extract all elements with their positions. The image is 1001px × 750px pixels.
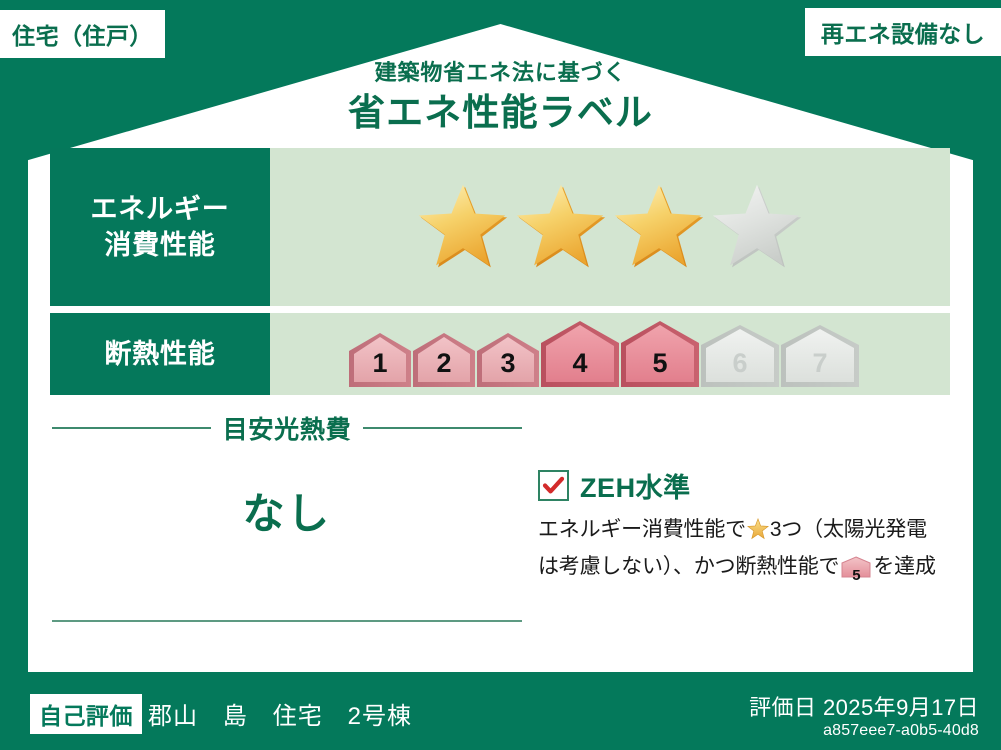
zeh-desc-part4: を達成 xyxy=(873,555,935,578)
insulation-level-3: 3 xyxy=(477,333,539,387)
energy-performance-value xyxy=(270,148,950,306)
insulation-level-1: 1 xyxy=(349,333,411,387)
evaluation-date: 評価日 2025年9月17日 xyxy=(749,690,979,722)
zeh-block: ZEH水準 エネルギー消費性能で 3つ（太陽光発電 は考慮しない）、かつ断熱性能… xyxy=(538,466,950,588)
house-badge-inline-number: 5 xyxy=(841,564,871,587)
label-subtitle: 建築物省エネ法に基づく xyxy=(0,60,1001,86)
insulation-level-2: 2 xyxy=(413,333,475,387)
insulation-level-number: 4 xyxy=(541,348,619,379)
zeh-checkbox[interactable] xyxy=(538,470,569,501)
energy-performance-label: エネルギー 消費性能 xyxy=(50,148,270,306)
building-type-tag-label: 住宅（住戸） xyxy=(12,17,153,51)
star-icon-inline xyxy=(747,518,769,551)
insulation-scale: 1234567 xyxy=(349,321,859,387)
utility-cost-bottom-rule xyxy=(52,620,522,622)
house-badge-inline: 5 xyxy=(841,556,871,589)
energy-performance-label-line1: エネルギー xyxy=(90,191,229,227)
insulation-level-number: 6 xyxy=(701,348,779,379)
utility-cost-heading: 目安光熱費 xyxy=(52,410,522,446)
insulation-performance-row: 断熱性能 1234567 xyxy=(50,313,950,395)
insulation-level-number: 1 xyxy=(349,348,411,379)
self-evaluation-badge: 自己評価 xyxy=(30,694,142,734)
heading-rule-right xyxy=(363,427,522,429)
insulation-performance-label-text: 断熱性能 xyxy=(104,336,215,372)
zeh-desc-part1: エネルギー消費性能で xyxy=(538,518,746,541)
insulation-level-number: 3 xyxy=(477,348,539,379)
insulation-level-number: 5 xyxy=(621,348,699,379)
building-name: 郡山 島 住宅 2号棟 xyxy=(148,696,412,731)
utility-cost-value: なし xyxy=(52,480,522,541)
renewable-energy-tag: 再エネ設備なし xyxy=(805,8,1001,56)
star-icon-filled xyxy=(415,179,511,275)
label-footer: 自己評価 郡山 島 住宅 2号棟 評価日 2025年9月17日 a857eee7… xyxy=(0,672,1001,750)
star-icon-filled xyxy=(513,179,609,275)
insulation-level-number: 7 xyxy=(781,348,859,379)
heading-rule-left xyxy=(52,427,211,429)
star-rating xyxy=(415,179,805,275)
insulation-performance-value: 1234567 xyxy=(270,313,950,395)
insulation-level-6: 6 xyxy=(701,325,779,387)
page-title: 省エネ性能ラベル xyxy=(0,90,1001,136)
energy-performance-label-line2: 消費性能 xyxy=(104,227,215,263)
insulation-level-7: 7 xyxy=(781,325,859,387)
zeh-description: エネルギー消費性能で 3つ（太陽光発電 は考慮しない）、かつ断熱性能で xyxy=(538,514,950,588)
insulation-level-4: 4 xyxy=(541,321,619,387)
zeh-desc-part3: は考慮しない）、かつ断熱性能で xyxy=(538,555,839,578)
insulation-performance-label: 断熱性能 xyxy=(50,313,270,395)
renewable-energy-tag-label: 再エネ設備なし xyxy=(821,15,985,49)
check-icon xyxy=(542,474,565,497)
zeh-header: ZEH水準 xyxy=(538,466,950,505)
star-icon-empty xyxy=(709,179,805,275)
utility-cost-heading-text: 目安光熱費 xyxy=(223,410,352,446)
energy-performance-label: 住宅（住戸） 再エネ設備なし 建築物省エネ法に基づく 省エネ性能ラベル エネルギ… xyxy=(0,0,1001,750)
insulation-level-number: 2 xyxy=(413,348,475,379)
insulation-level-5: 5 xyxy=(621,321,699,387)
energy-performance-row: エネルギー 消費性能 xyxy=(50,148,950,306)
zeh-desc-part2: 3つ（太陽光発電 xyxy=(770,518,927,541)
zeh-title: ZEH水準 xyxy=(580,466,691,505)
evaluation-id: a857eee7-a0b5-40d8 xyxy=(823,722,979,740)
building-type-tag: 住宅（住戸） xyxy=(0,10,165,58)
star-icon-filled xyxy=(611,179,707,275)
label-title-block: 建築物省エネ法に基づく 省エネ性能ラベル xyxy=(0,60,1001,137)
